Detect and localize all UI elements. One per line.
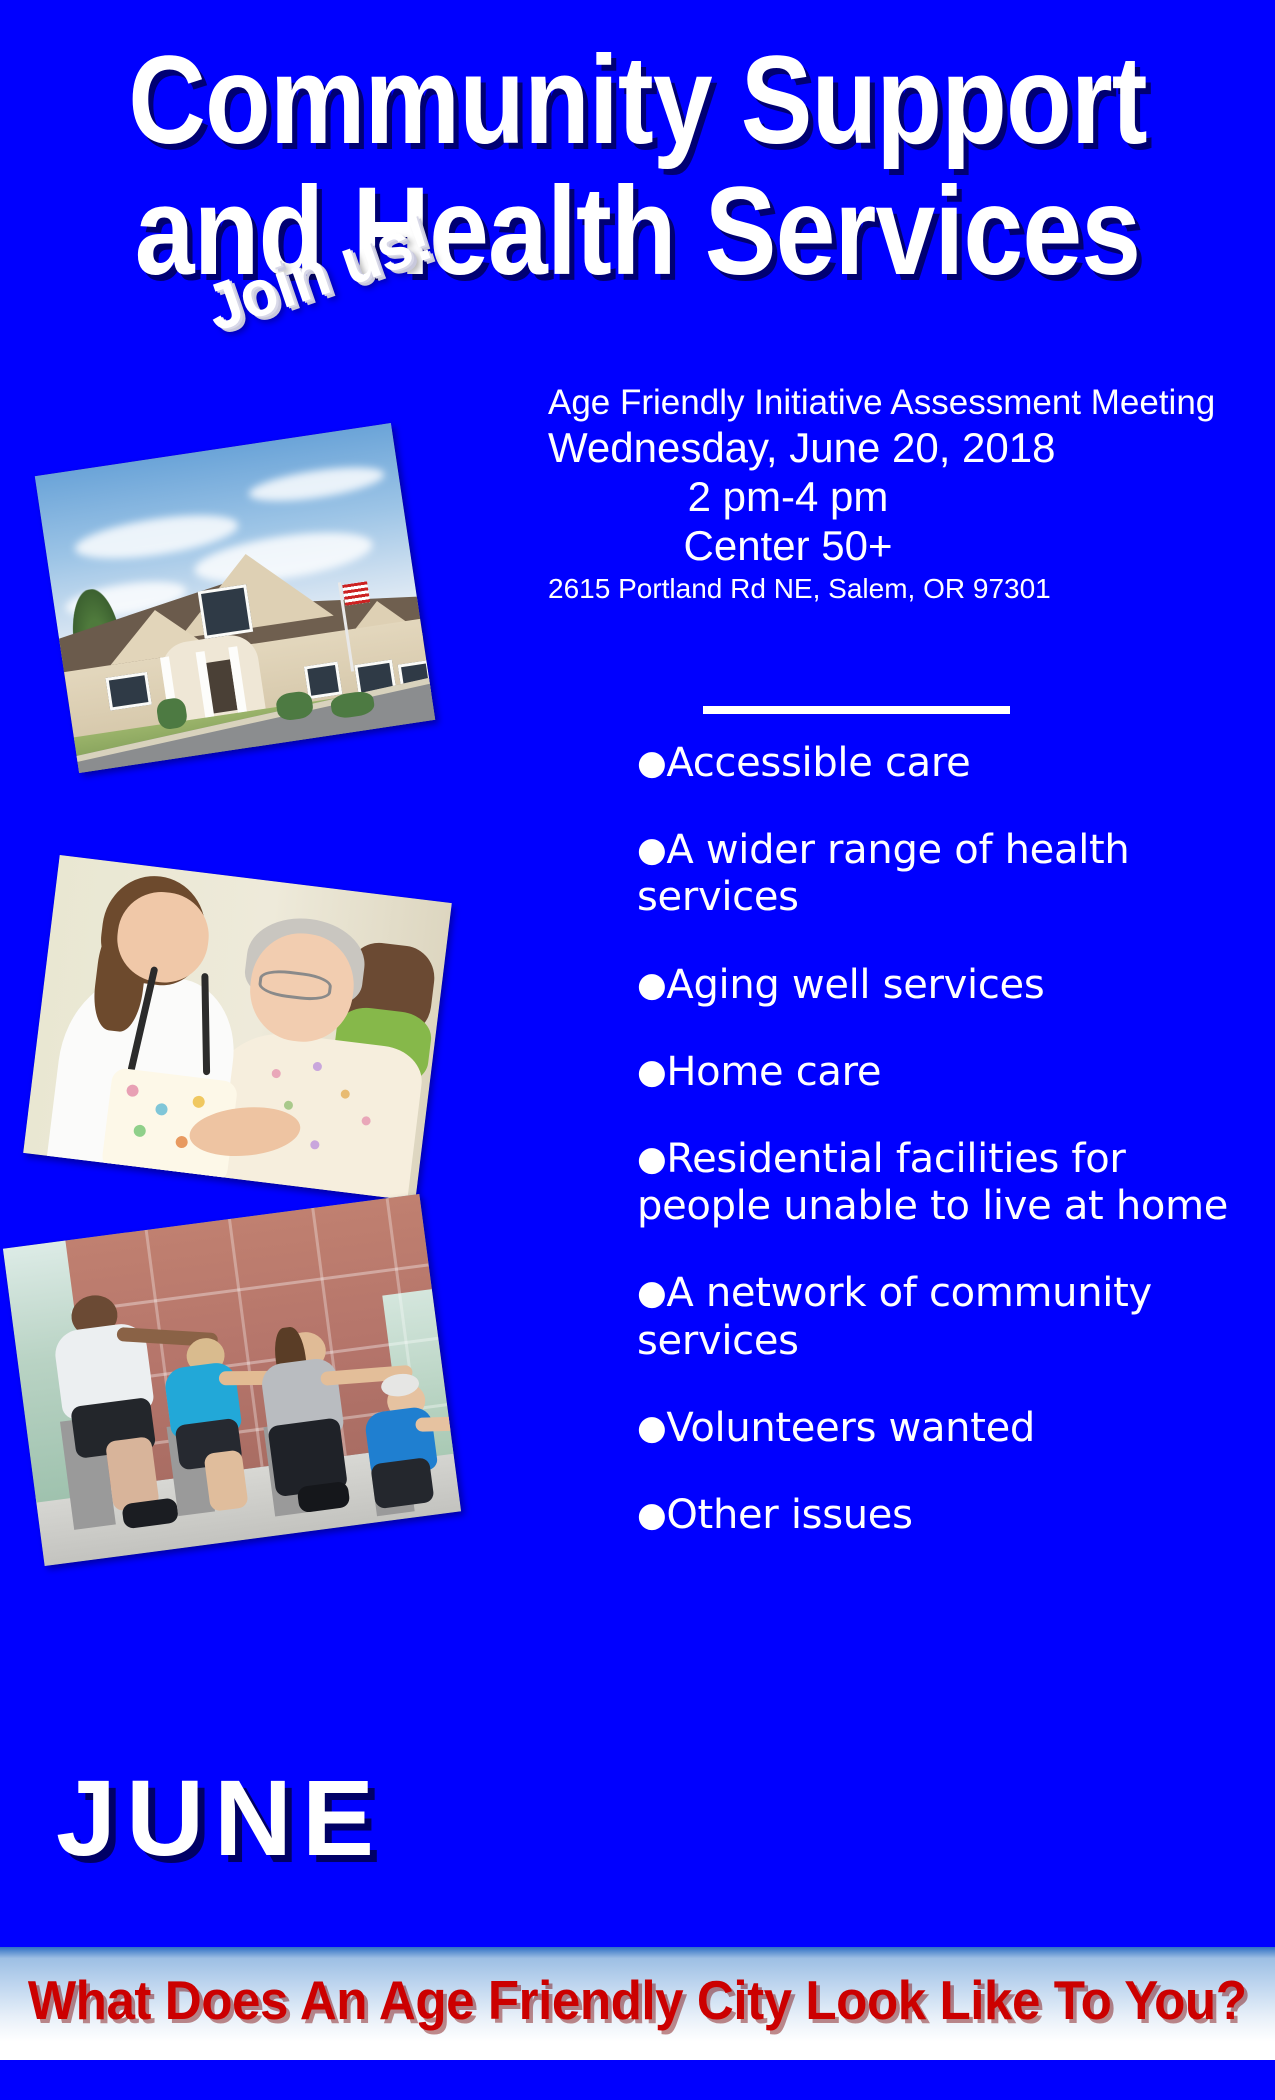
list-item: ●Home care <box>637 1049 1242 1096</box>
bullet-dot-icon: ● <box>637 965 666 1005</box>
list-item: ●A wider range of health services <box>637 827 1242 921</box>
list-item-label: Home care <box>666 1049 881 1095</box>
list-item-label: Volunteers wanted <box>666 1405 1035 1451</box>
list-item: ●Accessible care <box>637 740 1242 787</box>
list-item-label: Aging well services <box>666 962 1044 1008</box>
month-label: JUNE <box>56 1755 384 1880</box>
meeting-date: Wednesday, June 20, 2018 <box>548 424 1028 471</box>
meeting-time: 2 pm-4 pm <box>548 473 1028 520</box>
meeting-details: Age Friendly Initiative Assessment Meeti… <box>548 383 1028 605</box>
list-item: ●A network of community services <box>637 1270 1242 1364</box>
bullet-dot-icon: ● <box>637 1495 666 1535</box>
bullet-dot-icon: ● <box>637 1139 666 1179</box>
meeting-name: Age Friendly Initiative Assessment Meeti… <box>548 383 1028 422</box>
meeting-venue: Center 50+ <box>548 522 1028 569</box>
bullet-dot-icon: ● <box>637 1273 666 1313</box>
bottom-banner: What Does An Age Friendly City Look Like… <box>0 1947 1275 2060</box>
photo-senior-living-facility-exterior <box>35 423 435 773</box>
meeting-address: 2615 Portland Rd NE, Salem, OR 97301 <box>548 573 1028 604</box>
list-item: ●Residential facilities for people unabl… <box>637 1136 1242 1230</box>
title-line-1: Community Support <box>89 38 1186 163</box>
bullet-dot-icon: ● <box>637 1408 666 1448</box>
divider-rule <box>703 706 1010 714</box>
list-item: ●Aging well services <box>637 962 1242 1009</box>
list-item-label: A wider range of health services <box>637 827 1129 920</box>
photo-nurse-with-elderly-woman <box>23 855 452 1201</box>
bullet-dot-icon: ● <box>637 830 666 870</box>
list-item: ●Volunteers wanted <box>637 1405 1242 1452</box>
topics-list: ●Accessible care ●A wider range of healt… <box>637 740 1242 1579</box>
list-item: ●Other issues <box>637 1492 1242 1539</box>
bullet-dot-icon: ● <box>637 1052 666 1092</box>
list-item-label: Residential facilities for people unable… <box>637 1136 1228 1229</box>
bullet-dot-icon: ● <box>637 743 666 783</box>
banner-question: What Does An Age Friendly City Look Like… <box>28 1968 1247 2032</box>
list-item-label: Other issues <box>666 1492 912 1538</box>
poster: Community Support and Health Services <box>0 0 1275 2100</box>
page-title: Community Support and Health Services <box>0 38 1275 294</box>
list-item-label: Accessible care <box>666 740 970 786</box>
photo-seated-exercise-class <box>3 1194 461 1566</box>
list-item-label: A network of community services <box>637 1270 1152 1363</box>
